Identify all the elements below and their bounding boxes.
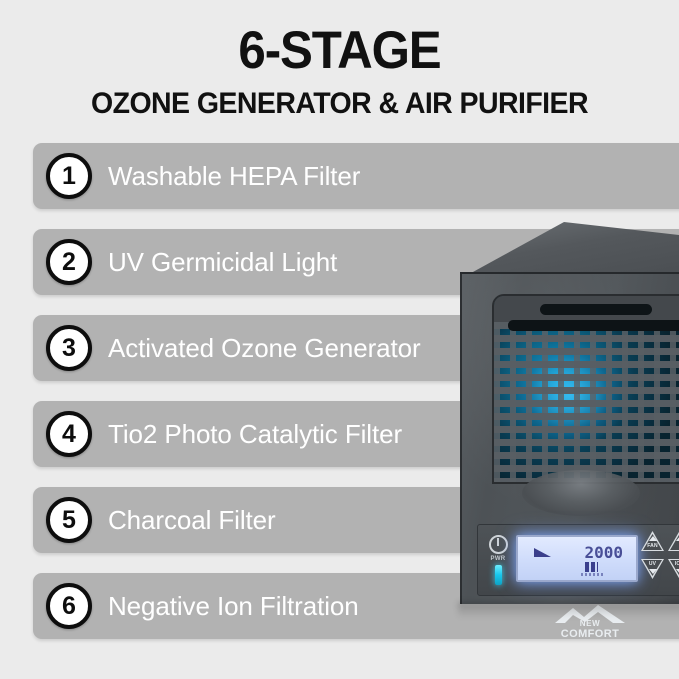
fan-button-label: FAN [641, 544, 664, 549]
feature-label: Activated Ozone Generator [108, 333, 421, 364]
brand-line-2: COMFORT [542, 629, 638, 640]
grille-slot [540, 304, 652, 315]
power-control-group: PWR [487, 535, 509, 585]
lcd-subtext [581, 573, 603, 576]
grille-slot [508, 320, 679, 331]
timer-up-button[interactable] [668, 531, 679, 554]
vent-recess [522, 470, 640, 516]
feature-number-badge: 6 [46, 583, 92, 629]
page-subtitle: OZONE GENERATOR & AIR PURIFIER [17, 77, 662, 119]
feature-number-badge: 1 [46, 153, 92, 199]
brand-line-1: NEW [542, 620, 638, 628]
device-base-shadow [458, 602, 679, 618]
feature-row: 1 Washable HEPA Filter [33, 143, 679, 209]
arrow-up-icon [649, 536, 657, 541]
feature-label: Tio2 Photo Catalytic Filter [108, 419, 402, 450]
level-bars-icon [585, 562, 598, 572]
feature-label: Negative Ion Filtration [108, 591, 359, 622]
triangle-up-icon [668, 531, 679, 551]
product-image: PWR 2000 FAN [452, 222, 679, 679]
arrow-down-icon [676, 569, 679, 574]
arrow-up-icon [676, 536, 679, 541]
ion-button-label: ION [668, 562, 679, 567]
button-grid: FAN UV ION [641, 531, 679, 589]
air-intake-grille [492, 294, 679, 484]
ion-down-button[interactable]: ION [668, 559, 679, 582]
lcd-value: 2000 [584, 543, 623, 562]
feature-label: Charcoal Filter [108, 505, 276, 536]
feature-number-badge: 3 [46, 325, 92, 371]
header-block: 6-STAGE OZONE GENERATOR & AIR PURIFIER [0, 0, 679, 119]
control-panel: PWR 2000 FAN [477, 524, 679, 596]
arrow-down-icon [649, 569, 657, 574]
feature-label: UV Germicidal Light [108, 247, 337, 278]
power-label: PWR [487, 556, 509, 562]
feature-label: Washable HEPA Filter [108, 161, 360, 192]
infographic-canvas: 6-STAGE OZONE GENERATOR & AIR PURIFIER 1… [0, 0, 679, 679]
uv-button-label: UV [641, 562, 664, 567]
power-icon[interactable] [489, 535, 508, 554]
feature-number-badge: 5 [46, 497, 92, 543]
fan-up-button[interactable]: FAN [641, 531, 664, 554]
power-led-indicator [495, 565, 502, 585]
device-top-face [452, 222, 679, 278]
fan-speed-icon [534, 548, 551, 557]
uv-down-button[interactable]: UV [641, 559, 664, 582]
feature-number-badge: 2 [46, 239, 92, 285]
feature-number-badge: 4 [46, 411, 92, 457]
lcd-display: 2000 [516, 535, 638, 582]
page-title: 6-STAGE [24, 0, 655, 77]
